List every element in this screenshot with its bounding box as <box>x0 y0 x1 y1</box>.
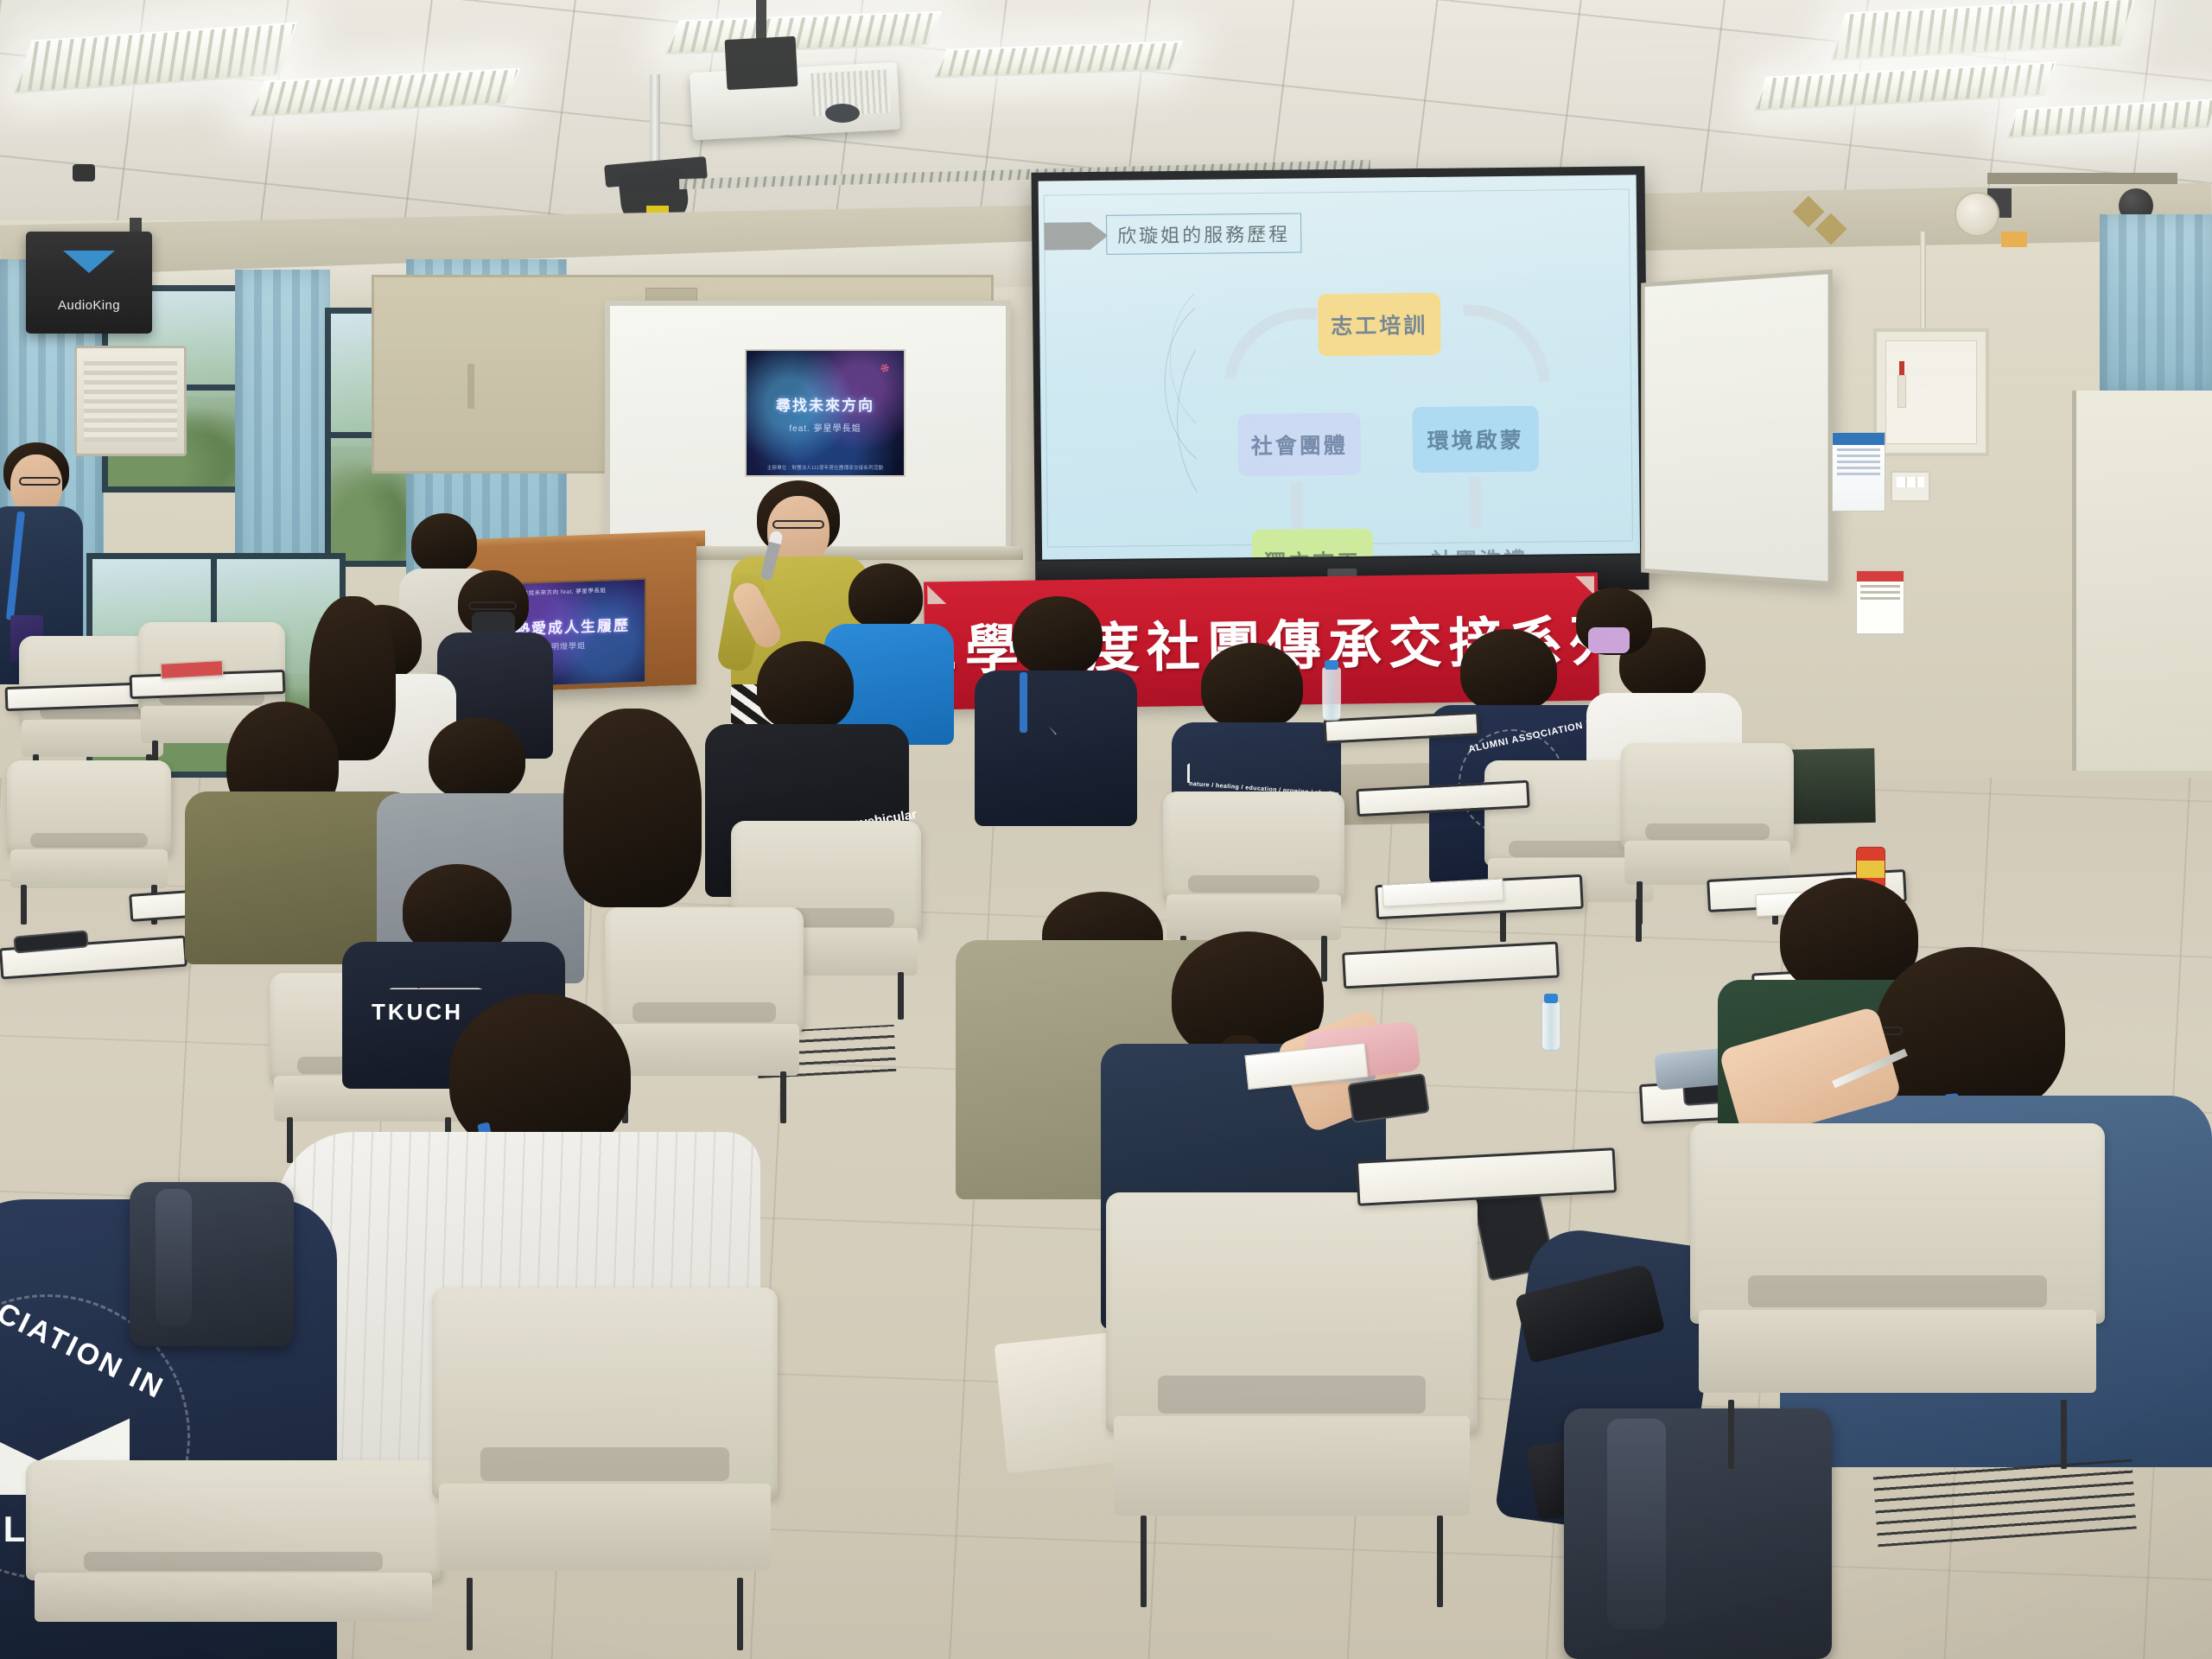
attendee-hair <box>429 717 525 800</box>
tablet-arm-chair[interactable] <box>26 1460 441 1659</box>
slide-node-social-group: 社會團體 <box>1237 413 1361 476</box>
notebook-on-desk[interactable] <box>161 660 224 679</box>
wall-vent-strip <box>1987 173 2177 184</box>
attendee-row3-navy-boat <box>975 596 1130 821</box>
backpack[interactable] <box>130 1182 294 1346</box>
alarm-bell-icon <box>1955 192 1999 237</box>
air-conditioner-unit <box>74 346 187 456</box>
chair-back <box>1690 1123 2105 1324</box>
projector-bracket <box>725 36 798 90</box>
wall-speaker: AudioKing <box>26 232 152 334</box>
panel-label-strip <box>1897 375 1906 408</box>
presenter-glasses-icon <box>772 520 824 529</box>
notice-text-line <box>1837 448 1880 451</box>
notice-text-line <box>1837 461 1880 463</box>
cabinet-handle[interactable] <box>467 364 474 409</box>
wall-small-notice <box>1856 570 1904 634</box>
chair-seat <box>35 1573 433 1623</box>
chair-back <box>7 760 171 855</box>
chair-leg <box>21 885 27 925</box>
notice-text-line <box>1837 473 1880 475</box>
attendee-hair <box>1460 629 1557 712</box>
wall-poster: ❄ 尋找未來方向 feat. 夢星學長姐 主辦單位：財團法人111學年度社團傳承… <box>745 349 906 477</box>
chair-leg <box>780 1071 786 1123</box>
tablet-arm-chair[interactable] <box>432 1287 778 1650</box>
wall-poster-subtitle: feat. 夢星學長姐 <box>789 421 861 434</box>
chair-leg <box>467 1578 473 1650</box>
chair-leg <box>1728 1400 1734 1469</box>
slide-node-volunteer-training: 志工培訓 <box>1318 293 1441 356</box>
slide-arrow-down-left <box>1291 482 1303 531</box>
backpack-strap <box>156 1189 192 1327</box>
chair-back <box>1621 743 1794 849</box>
chair-back <box>1163 791 1344 902</box>
slide-surface: 欣璇姐的服務歷程 志工培訓 社會團體 環境啟蒙 獨立志工 社團洗禮 <box>1039 175 1641 559</box>
slide-node-environment-enlightenment: 環境啟蒙 <box>1412 406 1539 474</box>
chair-back <box>1106 1192 1478 1433</box>
staff-glasses-icon <box>19 477 60 486</box>
wall-warning-sticker <box>2001 232 2027 247</box>
projection-screen: 欣璇姐的服務歷程 志工培訓 社會團體 環境啟蒙 獨立志工 社團洗禮 <box>1031 166 1649 595</box>
light-switch-plate[interactable] <box>1891 471 1930 502</box>
notice-text-line <box>1837 454 1880 457</box>
attendee-hair <box>1013 596 1103 676</box>
wall-poster-footer: 主辦單位：財團法人111學年度社團傳承交接系列活動 <box>752 464 899 471</box>
backpack-strap <box>1607 1419 1666 1630</box>
attendee-long-hair-center <box>553 709 717 968</box>
wall-poster-title: 尋找未來方向 <box>776 393 874 415</box>
classroom-door[interactable] <box>2072 391 2212 771</box>
attendee-hair <box>849 563 923 629</box>
slide-title-box: 欣璇姐的服務歷程 <box>1106 213 1301 254</box>
attendee-glasses-icon <box>468 601 517 610</box>
slide-node-club-baptism: 社團洗禮 <box>1414 527 1546 560</box>
window-curtain <box>2100 214 2212 396</box>
notice-header-band <box>1833 433 1885 445</box>
chair-seat <box>10 849 168 889</box>
face-mask <box>1588 627 1630 653</box>
speaker-logo-icon <box>63 251 115 273</box>
projector-lens-icon <box>825 104 860 123</box>
small-notice-line <box>1860 591 1900 594</box>
small-notice-line <box>1860 597 1900 600</box>
attendee-long-hair <box>563 709 702 907</box>
notice-text-line <box>1837 467 1880 469</box>
slide-arrow-down-right <box>1470 477 1482 527</box>
panel-indicator-light <box>1899 361 1904 375</box>
chair-leg <box>1437 1516 1443 1607</box>
water-bottle[interactable] <box>1541 1001 1560 1051</box>
small-notice-header <box>1857 571 1904 582</box>
attendee-hair <box>1201 643 1303 729</box>
wall-notice-poster <box>1832 432 1885 512</box>
chair-leg <box>1141 1516 1147 1607</box>
attendee-hair <box>1875 947 2065 1116</box>
attendee-hair <box>411 513 477 574</box>
attendee-back-right-mask <box>1557 588 1669 734</box>
attendee-hair <box>757 641 854 731</box>
attendee-lanyard <box>1020 672 1027 733</box>
slide-node-independent-volunteer: 獨立志工 <box>1252 529 1374 560</box>
small-notice-line <box>1860 585 1900 588</box>
chair-leg <box>737 1578 743 1650</box>
whiteboard-right <box>1641 270 1833 587</box>
speaker-brand-label: AudioKing <box>26 298 152 313</box>
chair-back <box>26 1460 441 1580</box>
slide-decoration-lines <box>1048 283 1198 536</box>
electrical-panel[interactable] <box>1873 328 1989 456</box>
bottle-cap <box>1325 660 1338 670</box>
chair-back <box>432 1287 778 1498</box>
chair-seat <box>439 1484 771 1571</box>
chair-seat <box>1699 1310 2097 1393</box>
classroom-photo-scene: AudioKing ❄ 尋找未來方向 feat. 夢星學長姐 主辦單位：財團法人… <box>0 0 2212 1659</box>
attendee-torso <box>975 671 1137 826</box>
chair-seat <box>1114 1416 1471 1516</box>
chair-leg <box>1637 881 1643 925</box>
slide-title: 欣璇姐的服務歷程 <box>1117 219 1290 249</box>
ceiling-camera-icon <box>73 164 95 181</box>
tablet-arm-chair[interactable] <box>1690 1123 2105 1469</box>
tablet-arm-chair[interactable] <box>1106 1192 1478 1607</box>
chair-leg <box>898 972 904 1020</box>
water-bottle[interactable] <box>1322 667 1341 721</box>
conduit-pipe <box>1920 232 1926 332</box>
bottle-cap <box>1544 994 1558 1003</box>
butterfly-icon: ❄ <box>878 360 892 378</box>
